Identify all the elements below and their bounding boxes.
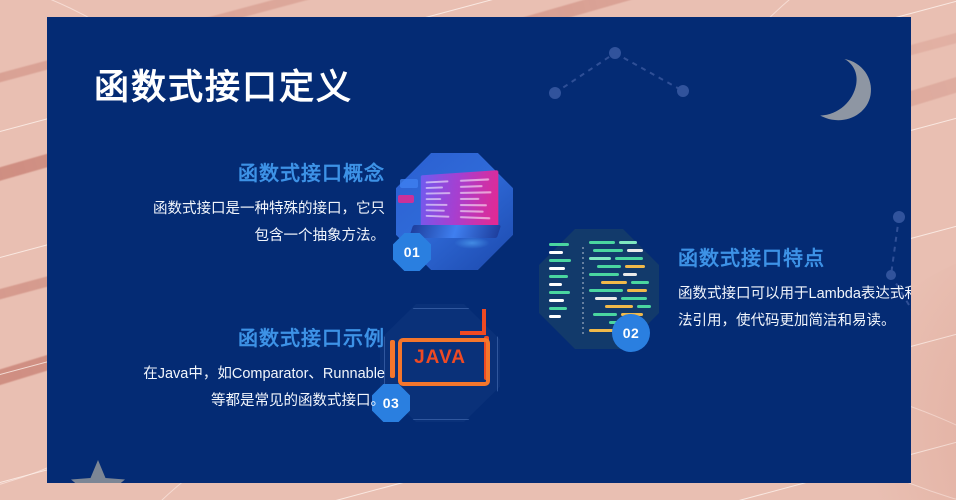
block-body-concept: 函数式接口是一种特殊的接口，它只包含一个抽象方法。 [143, 196, 385, 250]
laptop-glow [454, 237, 490, 249]
slide-panel: 函数式接口定义 [47, 17, 911, 483]
java-left-bar [390, 340, 395, 378]
java-logo-illustration: JAVA 03 [380, 304, 500, 422]
block-heading-concept: 函数式接口概念 [143, 162, 385, 186]
star-icon [69, 457, 127, 483]
moon-icon [807, 55, 877, 125]
block-body-features: 函数式接口可以用于Lambda表达式和方法引用，使代码更加简洁和易读。 [678, 281, 911, 335]
java-corner-mark [460, 309, 486, 335]
step-badge-02: 02 [612, 314, 650, 352]
laptop-illustration: 01 [392, 149, 517, 274]
block-heading-examples: 函数式接口示例 [140, 327, 385, 351]
content-block-features: 函数式接口特点 函数式接口可以用于Lambda表达式和方法引用，使代码更加简洁和… [678, 247, 911, 335]
laptop-tag-shape [400, 179, 418, 188]
content-block-concept: 函数式接口概念 函数式接口是一种特殊的接口，它只包含一个抽象方法。 [143, 162, 385, 250]
code-screen-illustration: 02 [539, 229, 659, 349]
step-badge-01: 01 [393, 233, 431, 271]
constellation-top-icon [537, 39, 697, 109]
block-body-examples: 在Java中，如Comparator、Runnable等都是常见的函数式接口。 [140, 361, 385, 415]
laptop-chip-shape [398, 195, 414, 203]
laptop-screen [421, 170, 499, 232]
content-block-examples: 函数式接口示例 在Java中，如Comparator、Runnable等都是常见… [140, 327, 385, 415]
page-title: 函数式接口定义 [94, 59, 353, 110]
block-heading-features: 函数式接口特点 [678, 247, 911, 271]
slide-stage: 函数式接口定义 [0, 0, 956, 500]
java-logo-text: JAVA [398, 338, 482, 378]
